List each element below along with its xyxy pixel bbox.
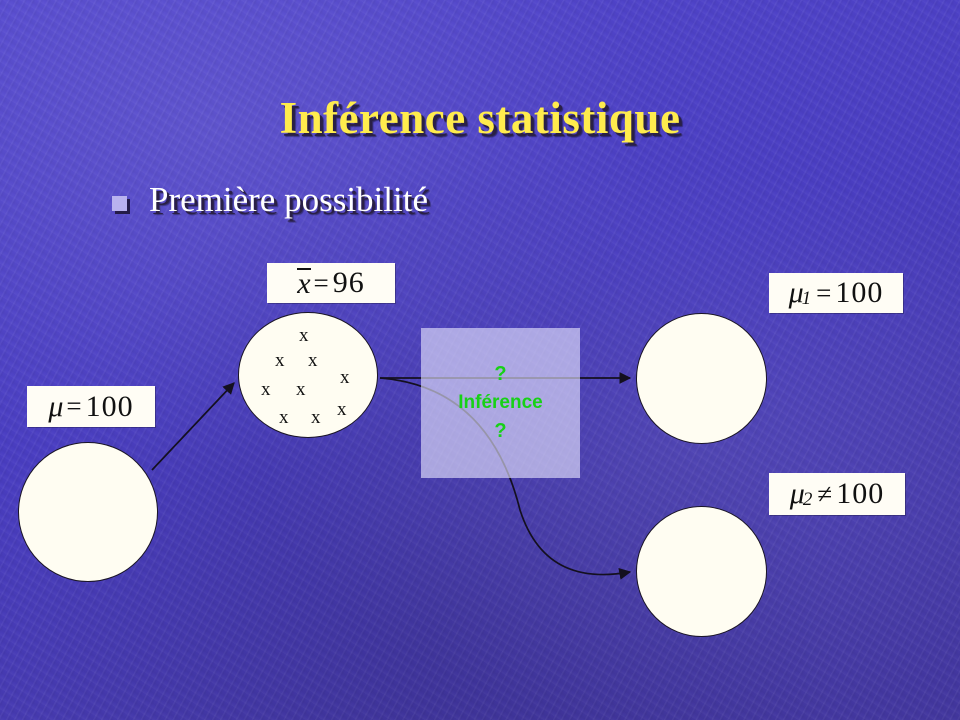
x-bar-symbol: x [297,265,310,301]
formula-value: 96 [333,266,365,300]
page-title: Inférence statistique [0,92,960,144]
formula-value: 100 [835,276,883,310]
inference-question-bottom: ? [494,417,506,446]
inference-panel: ? Inférence ? [421,328,580,478]
formula-sample-mean: x=96 [267,263,395,303]
sample-x-mark: x [299,326,309,345]
formula-value: 100 [86,390,134,424]
hypothesis2-circle [636,506,767,637]
sample-circle: x x x x x x x x x [238,312,378,438]
bullet-item: Première possibilité [112,180,428,220]
sample-x-mark: x [337,400,347,419]
sample-x-mark: x [261,380,271,399]
sample-x-mark: x [311,408,321,427]
sample-x-mark: x [279,408,289,427]
equals-operator: = [816,278,831,309]
formula-hypothesis-1: μ1=100 [769,273,903,313]
arrow-population-to-sample [152,383,234,470]
bullet-square-icon [112,196,127,211]
not-equals-operator: ≠ [817,479,832,510]
mu-symbol: μ [48,390,63,424]
formula-population-mean: μ=100 [27,386,155,427]
sample-x-mark: x [340,368,350,387]
sample-x-mark: x [308,351,318,370]
sample-x-mark: x [275,351,285,370]
equals-operator: = [66,391,81,422]
hypothesis1-circle [636,313,767,444]
inference-question-top: ? [494,360,506,389]
overbar-icon [297,268,310,270]
formula-value: 100 [836,477,884,511]
slide-canvas: Inférence statistique Première possibili… [0,0,960,720]
mu-subscript: 2 [803,489,813,511]
mu-subscript: 1 [802,288,812,310]
sample-x-mark: x [296,380,306,399]
population-circle [18,442,158,582]
equals-operator: = [314,268,329,299]
inference-label: Inférence [458,389,542,417]
bullet-item-label: Première possibilité [149,180,428,220]
formula-hypothesis-2: μ2≠100 [769,473,905,515]
